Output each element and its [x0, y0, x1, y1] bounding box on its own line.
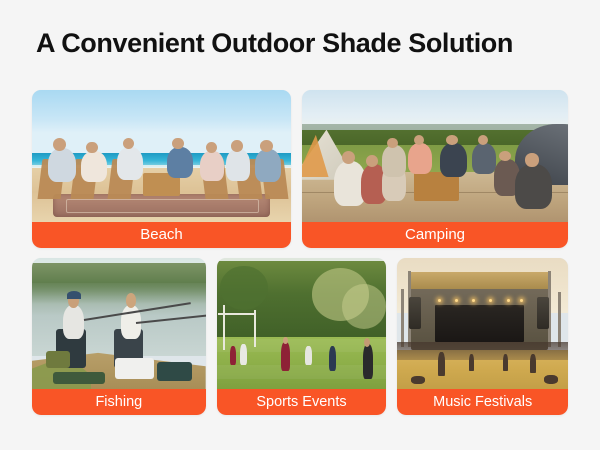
player [230, 346, 236, 366]
camping-photo [302, 90, 568, 222]
water-reflection [32, 283, 206, 304]
angler-head [126, 293, 136, 307]
person-head [366, 155, 378, 167]
fishing-photo [32, 258, 206, 389]
stage-backdrop [435, 305, 524, 342]
cap [67, 291, 81, 299]
person [255, 149, 281, 182]
goal-post [254, 310, 256, 347]
tree [220, 266, 268, 311]
gear-box [157, 362, 192, 382]
card-music-festivals[interactable]: Music Festivals [397, 258, 568, 415]
page-title: A Convenient Outdoor Shade Solution [36, 28, 513, 59]
person [226, 149, 249, 181]
truss-tower [558, 292, 561, 347]
stage-light [507, 299, 510, 302]
person-with-guitar [167, 147, 193, 179]
person [382, 145, 406, 177]
mowing-stripe [217, 365, 387, 378]
festival-goer [469, 354, 474, 371]
card-label-sports-events: Sports Events [217, 389, 387, 415]
stage-light [520, 299, 523, 302]
seated-group [411, 376, 425, 384]
card-sports-events[interactable]: Sports Events [217, 258, 387, 415]
card-label-camping: Camping [302, 222, 568, 248]
person [440, 143, 467, 177]
beach-photo [32, 90, 291, 222]
player [305, 346, 312, 366]
card-row-bottom: Fishing [32, 258, 568, 415]
music-photo [397, 258, 568, 389]
festival-goer [503, 354, 508, 371]
stage-light [438, 299, 441, 302]
card-fishing[interactable]: Fishing [32, 258, 206, 415]
rod-bag [53, 372, 105, 384]
card-camping[interactable]: Camping [302, 90, 568, 248]
person-head [499, 151, 511, 162]
person [117, 147, 143, 180]
crowd [397, 342, 568, 360]
card-label-beach: Beach [32, 222, 291, 248]
person-head [446, 135, 458, 146]
speaker-stack [537, 297, 549, 328]
card-beach[interactable]: Beach [32, 90, 291, 248]
speaker-stack [409, 297, 421, 328]
sky [32, 90, 291, 159]
angler [63, 305, 84, 339]
seated-group [544, 375, 558, 384]
card-row-top: Beach [32, 90, 568, 248]
person [200, 151, 223, 181]
truss-tower [401, 289, 404, 347]
referee [363, 344, 373, 378]
player-red [281, 342, 289, 371]
person [515, 164, 552, 209]
person [48, 148, 76, 182]
player [329, 346, 337, 371]
promo-graphic: A Convenient Outdoor Shade Solution [0, 0, 600, 450]
person [408, 143, 432, 175]
person [81, 151, 107, 183]
person-head [260, 140, 273, 152]
person-head [387, 138, 398, 149]
goal-crossbar [218, 313, 255, 315]
card-label-fishing: Fishing [32, 389, 206, 415]
sports-photo [217, 258, 387, 389]
card-label-music-festivals: Music Festivals [397, 389, 568, 415]
stage-roof [408, 272, 551, 289]
person-head [342, 151, 355, 164]
person-head [525, 153, 538, 166]
cooler-box [115, 358, 153, 379]
person-head [53, 138, 66, 151]
player [240, 344, 247, 365]
person [472, 143, 496, 175]
far-treeline [32, 263, 206, 284]
festival-goer [438, 352, 445, 376]
tackle-box [46, 351, 70, 368]
tree [342, 284, 386, 329]
person-head [172, 138, 184, 150]
festival-goer [530, 354, 536, 374]
goal-post [223, 305, 225, 350]
